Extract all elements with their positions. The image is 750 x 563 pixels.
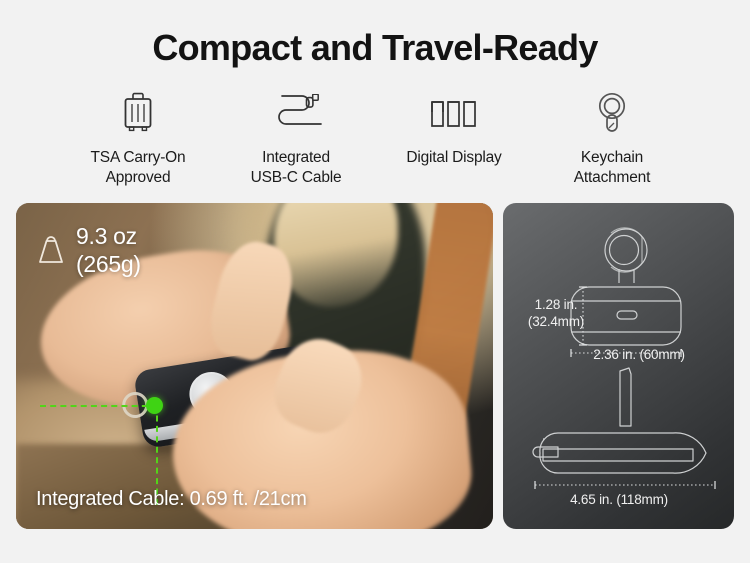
page-title: Compact and Travel-Ready — [0, 0, 750, 68]
weight-value: 9.3 oz (265g) — [76, 223, 141, 278]
feature-item-keychain: Keychain Attachment — [536, 90, 688, 189]
width-dimension-label: 2.36 in. (60mm) — [549, 346, 729, 363]
feature-label: Digital Display — [406, 148, 501, 168]
usb-c-cable-icon — [269, 90, 323, 138]
feature-label: TSA Carry-On Approved — [91, 148, 186, 189]
dimensions-card: 1.28 in. (32.4mm) 2.36 in. (60mm) 4.65 i… — [503, 203, 734, 529]
feature-label: Keychain Attachment — [574, 148, 650, 189]
feature-list: TSA Carry-On Approved Integrated USB-C C… — [0, 68, 750, 189]
suitcase-icon — [121, 90, 155, 138]
spec-side-ring — [620, 368, 631, 426]
media-cards: 9.3 oz (265g) Integrated Cable: 0.69 ft.… — [16, 203, 734, 529]
product-photo-card: 9.3 oz (265g) Integrated Cable: 0.69 ft.… — [16, 203, 493, 529]
keychain-ring-icon — [595, 90, 629, 138]
feature-label: Integrated USB-C Cable — [251, 148, 342, 189]
cable-measure-endpoint-dot — [146, 397, 163, 414]
feature-item-usb-c: Integrated USB-C Cable — [220, 90, 372, 189]
product-feature-page: Compact and Travel-Ready TSA Carry-On Ap… — [0, 0, 750, 563]
height-dimension-label: 1.28 in. (32.4mm) — [515, 296, 597, 330]
cable-length-caption: Integrated Cable: 0.69 ft. /21cm — [36, 488, 307, 511]
weight-badge: 9.3 oz (265g) — [36, 223, 141, 278]
feature-item-display: Digital Display — [378, 90, 530, 189]
feature-item-tsa: TSA Carry-On Approved — [62, 90, 214, 189]
cable-measure-line-horizontal — [40, 405, 158, 407]
spec-ring-inner — [610, 236, 639, 265]
length-dimension-label: 4.65 in. (118mm) — [529, 491, 709, 508]
weight-icon — [36, 231, 66, 270]
digital-display-icon — [429, 90, 479, 138]
dimension-drawings — [503, 203, 734, 529]
